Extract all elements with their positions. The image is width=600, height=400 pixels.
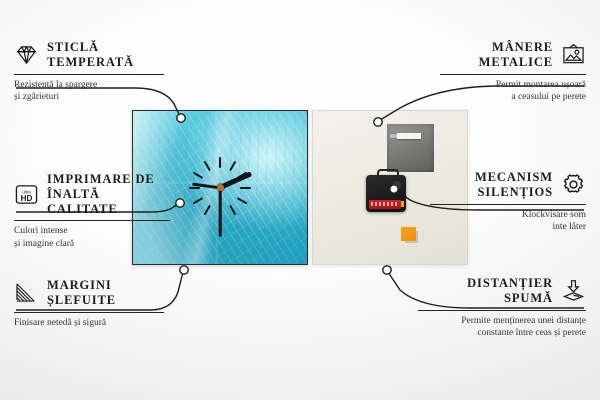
callout-title: DISTANȚIER SPUMĂ — [467, 276, 553, 306]
callout-description: Permite menținerea unei distanțe constan… — [418, 315, 586, 340]
connector-dot-margini — [180, 266, 188, 274]
second-hand — [218, 188, 221, 237]
picture-hanger-icon — [561, 43, 586, 66]
callout-description: Finisare netedă și sigură — [14, 317, 164, 329]
ultra-hd-icon: ultra HD — [14, 183, 39, 206]
callout-header: STICLĂ TEMPERATĂ — [14, 40, 164, 70]
callout-distantier-spuma: DISTANȚIER SPUMĂ Permite menținerea unei… — [418, 276, 586, 339]
callout-divider — [430, 204, 586, 205]
callout-header: ultra HD IMPRIMARE DE ÎNALTĂ CALITATE — [14, 172, 170, 216]
callout-title: MECANISM SILENȚIOS — [475, 170, 553, 200]
callout-divider — [14, 74, 164, 75]
diamond-icon — [14, 43, 39, 66]
polished-edges-icon — [14, 281, 39, 304]
hanger-slot — [397, 133, 421, 139]
gear-icon — [561, 173, 586, 196]
callout-title: MÂNERE METALICE — [479, 40, 553, 70]
movement-knob — [393, 181, 401, 189]
callout-imprimare-inalta-calitate: ultra HD IMPRIMARE DE ÎNALTĂ CALITATE Cu… — [14, 172, 170, 250]
callout-manere-metalice: MÂNERE METALICE Permit montarea ușoară a… — [440, 40, 586, 103]
battery-label — [371, 202, 397, 206]
callout-margini-slefuite: MARGINI ȘLEFUITE Finisare netedă și sigu… — [14, 278, 164, 329]
callout-divider — [418, 310, 586, 311]
callout-sticla-temperata: STICLĂ TEMPERATĂ Rezistentă la spargere … — [14, 40, 164, 103]
callout-description: Klockvisare som inte låter — [430, 209, 586, 234]
callout-description: Rezistentă la spargere și zgârieturi — [14, 79, 164, 104]
callout-header: MARGINI ȘLEFUITE — [14, 278, 164, 308]
callout-title: MARGINI ȘLEFUITE — [47, 278, 116, 308]
callout-divider — [14, 220, 170, 221]
callout-description: Permit montarea ușoară a ceasului pe per… — [440, 79, 586, 104]
callout-header: MÂNERE METALICE — [440, 40, 586, 70]
callout-divider — [440, 74, 586, 75]
callout-header: MECANISM SILENȚIOS — [430, 170, 586, 200]
foam-spacer-icon — [561, 279, 586, 302]
callout-header: DISTANȚIER SPUMĂ — [418, 276, 586, 306]
callout-mecanism-silentios: MECANISM SILENȚIOS Klockvisare som inte … — [430, 170, 586, 233]
product-image — [132, 110, 468, 265]
infographic-canvas: STICLĂ TEMPERATĂ Rezistentă la spargere … — [0, 0, 600, 400]
metal-hanger-plate — [387, 124, 434, 172]
callout-title: STICLĂ TEMPERATĂ — [47, 40, 134, 70]
battery — [369, 200, 401, 209]
callout-divider — [14, 312, 164, 313]
callout-description: Culori intense și imagine clară — [14, 225, 170, 250]
quartz-movement — [366, 175, 406, 212]
svg-text:HD: HD — [21, 193, 33, 202]
connector-dot-distantier — [383, 266, 391, 274]
movement-hook — [377, 169, 399, 179]
clock-center-pin — [217, 184, 224, 191]
orange-foam-spacer — [401, 227, 416, 241]
callout-title: IMPRIMARE DE ÎNALTĂ CALITATE — [47, 172, 170, 216]
